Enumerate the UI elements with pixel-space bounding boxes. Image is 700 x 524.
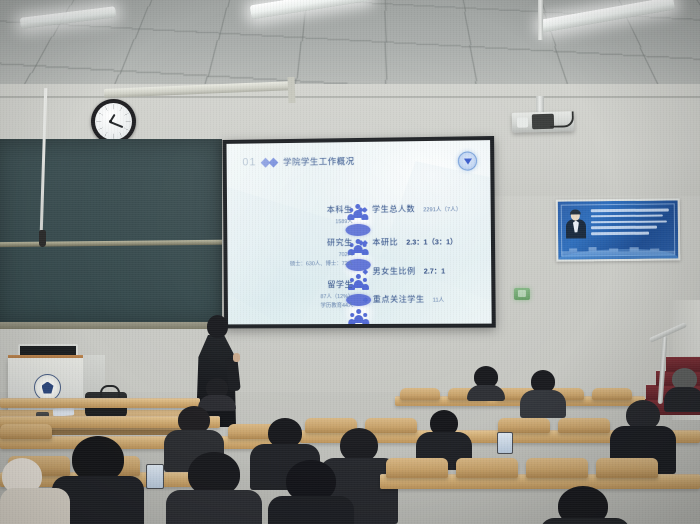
- right-bullet-icon: [363, 269, 369, 275]
- people-group-icon: [348, 309, 370, 324]
- bench-backrest: [498, 418, 550, 433]
- audience-body: [268, 496, 354, 524]
- left-item-sub: 1589人: [263, 217, 352, 226]
- right-bullet-icon: [363, 240, 369, 246]
- left-item-label: 研究生: [263, 237, 352, 249]
- slide-title: 学院学生工作概况: [283, 155, 355, 168]
- audience-body: [166, 490, 262, 524]
- university-emblem: [34, 374, 61, 401]
- left-item-label: 留学生: [264, 279, 353, 290]
- bench-backrest: [596, 458, 658, 478]
- audience-person: [0, 452, 70, 524]
- audience-person: [268, 460, 354, 524]
- pull-cord-weight: [39, 230, 46, 247]
- bench-backrest: [400, 388, 440, 400]
- slide-left-item: 研究生 702人 硕士：630人、博士：72人: [263, 237, 353, 268]
- left-item-sub: 702人: [264, 250, 353, 259]
- slide-right-item: 本研比 2.3：1（3：1）: [363, 236, 484, 248]
- chalkboard: [0, 139, 222, 327]
- projector-lens: [517, 117, 528, 127]
- right-bullet-icon: [363, 297, 369, 303]
- slide-canvas: 01 学院学生工作概况: [227, 140, 492, 324]
- presenter-hand: [233, 353, 240, 362]
- audience-person: [166, 452, 262, 524]
- left-item-sub: 87人（12%）: [264, 292, 353, 300]
- audience-person: [540, 486, 630, 524]
- slide-right-item: 重点关注学生 11人: [364, 293, 485, 305]
- bench-backrest: [386, 458, 448, 478]
- wall-clock: [91, 99, 136, 144]
- slide-right-item: 男女生比例 2.7：1: [364, 265, 485, 277]
- exit-sign: [514, 288, 530, 300]
- bench-backrest: [526, 458, 588, 478]
- chalkboard-bottom-trim: [0, 322, 222, 329]
- projector-cable: [550, 111, 574, 128]
- audience-body: [467, 385, 505, 401]
- audience-body: [540, 518, 630, 524]
- shield-badge-icon: [458, 151, 477, 170]
- clock-center-pin: [109, 120, 112, 123]
- audience-head: [340, 428, 378, 462]
- audience-body: [520, 390, 566, 418]
- presenter-head: [207, 315, 228, 338]
- slide-section-number: 01: [242, 156, 256, 168]
- bench-backrest: [558, 418, 610, 433]
- audience-person: [196, 378, 238, 408]
- audience-person: [466, 366, 506, 400]
- smartphone[interactable]: [497, 432, 513, 454]
- audience-body: [0, 488, 70, 524]
- right-item-value: 2.7：1: [424, 266, 445, 276]
- right-item-value: 2.3：1（3：1）: [406, 237, 457, 247]
- projection-screen: 01 学院学生工作概况: [223, 136, 496, 328]
- right-item-value: 11人: [433, 295, 445, 303]
- slide-left-item: 本科生 1589人: [263, 204, 352, 225]
- lecture-hall-photo: 01 学院学生工作概况: [0, 0, 700, 524]
- right-item-value: 2291人（7人）: [423, 204, 461, 212]
- right-item-label: 男女生比例: [373, 266, 416, 277]
- ceiling: [0, 0, 700, 92]
- bench-backrest: [456, 458, 518, 478]
- wall-propaganda-poster: [556, 198, 681, 261]
- right-bullet-icon: [362, 207, 368, 213]
- diamond-bullet-icon: [262, 159, 277, 166]
- slide-left-item: 留学生 87人（12%） 学历教育44人: [264, 279, 354, 309]
- bench-backrest: [0, 424, 52, 439]
- right-item-label: 学生总人数: [372, 203, 415, 214]
- slide-right-item: 学生总人数 2291人（7人）: [363, 203, 484, 215]
- smartphone[interactable]: [146, 464, 164, 489]
- right-item-label: 本研比: [372, 237, 398, 248]
- slide-header: 01 学院学生工作概况: [242, 155, 354, 168]
- left-item-label: 本科生: [263, 204, 352, 216]
- bench-backrest: [592, 388, 632, 400]
- ceiling-support-pole: [538, 0, 543, 40]
- right-item-label: 重点关注学生: [373, 294, 425, 305]
- left-item-sub2: 学历教育44人: [264, 301, 353, 309]
- poster-text-block: [591, 208, 671, 238]
- audience-person: [520, 370, 566, 416]
- light-bracket-end: [287, 77, 295, 103]
- left-item-sub2: 硕士：630人、博士：72人: [264, 259, 353, 268]
- ceiling-projector: [512, 111, 575, 133]
- speaker-portrait: [566, 210, 586, 238]
- bag-handle: [100, 385, 120, 399]
